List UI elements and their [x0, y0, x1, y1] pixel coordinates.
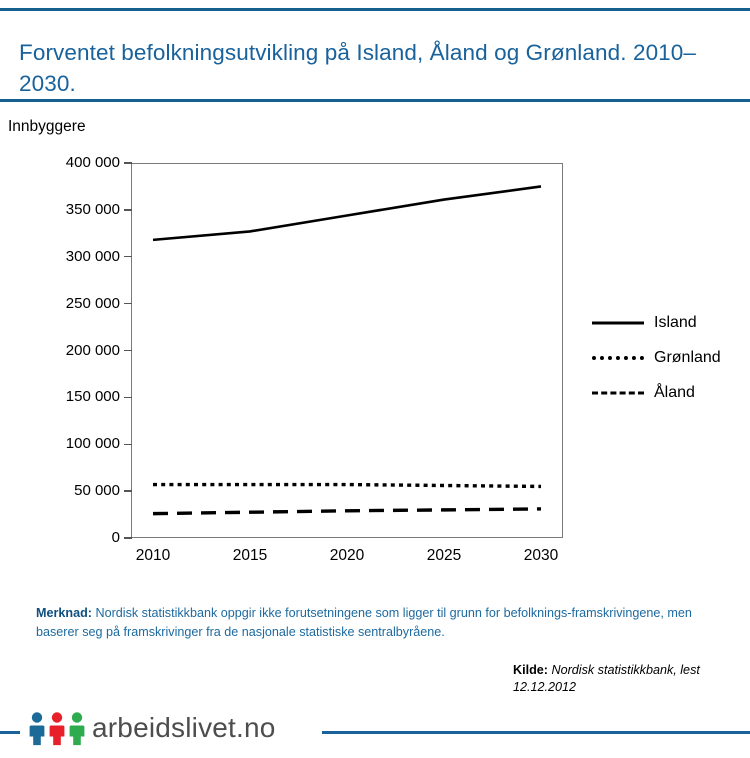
legend-item: Island: [592, 305, 750, 340]
y-tick-label: 400 000: [0, 154, 120, 171]
y-tick-label: 0: [0, 529, 120, 546]
y-tick-label: 100 000: [0, 435, 120, 452]
y-tick-mark: [124, 444, 132, 445]
people-logo-icon: [28, 710, 86, 746]
legend-label: Grønland: [654, 349, 721, 367]
series-line-aland: [153, 509, 541, 514]
y-tick-mark: [124, 490, 132, 491]
brand-name: arbeidslivet.no: [92, 712, 276, 744]
note-text: Nordisk statistikkbank oppgir ikke forut…: [36, 606, 692, 639]
series-line-gronland: [153, 485, 541, 487]
legend-swatch-dashed-icon: [592, 386, 644, 400]
header-bottom-rule: [0, 99, 750, 102]
y-tick-mark: [124, 397, 132, 398]
y-tick-mark: [124, 162, 132, 163]
series-line-island: [153, 186, 541, 239]
chart-lines: [131, 163, 563, 538]
page-title: Forventet befolkningsutvikling på Island…: [19, 37, 729, 99]
legend-item: Åland: [592, 375, 750, 410]
chart-legend: IslandGrønlandÅland: [592, 305, 750, 410]
x-tick-label: 2020: [302, 547, 392, 565]
y-tick-mark: [124, 209, 132, 210]
footer-rule-right: [322, 731, 750, 734]
note-block: Merknad: Nordisk statistikkbank oppgir i…: [36, 604, 696, 641]
footer-rule-left: [0, 731, 20, 734]
header-top-rule: [0, 8, 750, 11]
y-tick-mark: [124, 350, 132, 351]
y-tick-label: 350 000: [0, 201, 120, 218]
legend-item: Grønland: [592, 340, 750, 375]
x-tick-label: 2030: [496, 547, 586, 565]
y-tick-mark: [124, 256, 132, 257]
source-label: Kilde:: [513, 663, 548, 677]
y-tick-label: 300 000: [0, 248, 120, 265]
note-label: Merknad:: [36, 606, 92, 620]
y-tick-label: 150 000: [0, 388, 120, 405]
y-tick-label: 50 000: [0, 482, 120, 499]
source-block: Kilde: Nordisk statistikkbank, lest 12.1…: [513, 662, 743, 696]
y-tick-label: 200 000: [0, 342, 120, 359]
y-tick-label: 250 000: [0, 295, 120, 312]
y-tick-mark: [124, 303, 132, 304]
legend-label: Island: [654, 314, 697, 332]
legend-swatch-dotted-icon: [592, 351, 644, 365]
y-tick-mark: [124, 537, 132, 538]
x-tick-label: 2015: [205, 547, 295, 565]
legend-swatch-solid-icon: [592, 316, 644, 330]
x-tick-label: 2025: [399, 547, 489, 565]
legend-label: Åland: [654, 384, 695, 402]
x-tick-label: 2010: [108, 547, 198, 565]
